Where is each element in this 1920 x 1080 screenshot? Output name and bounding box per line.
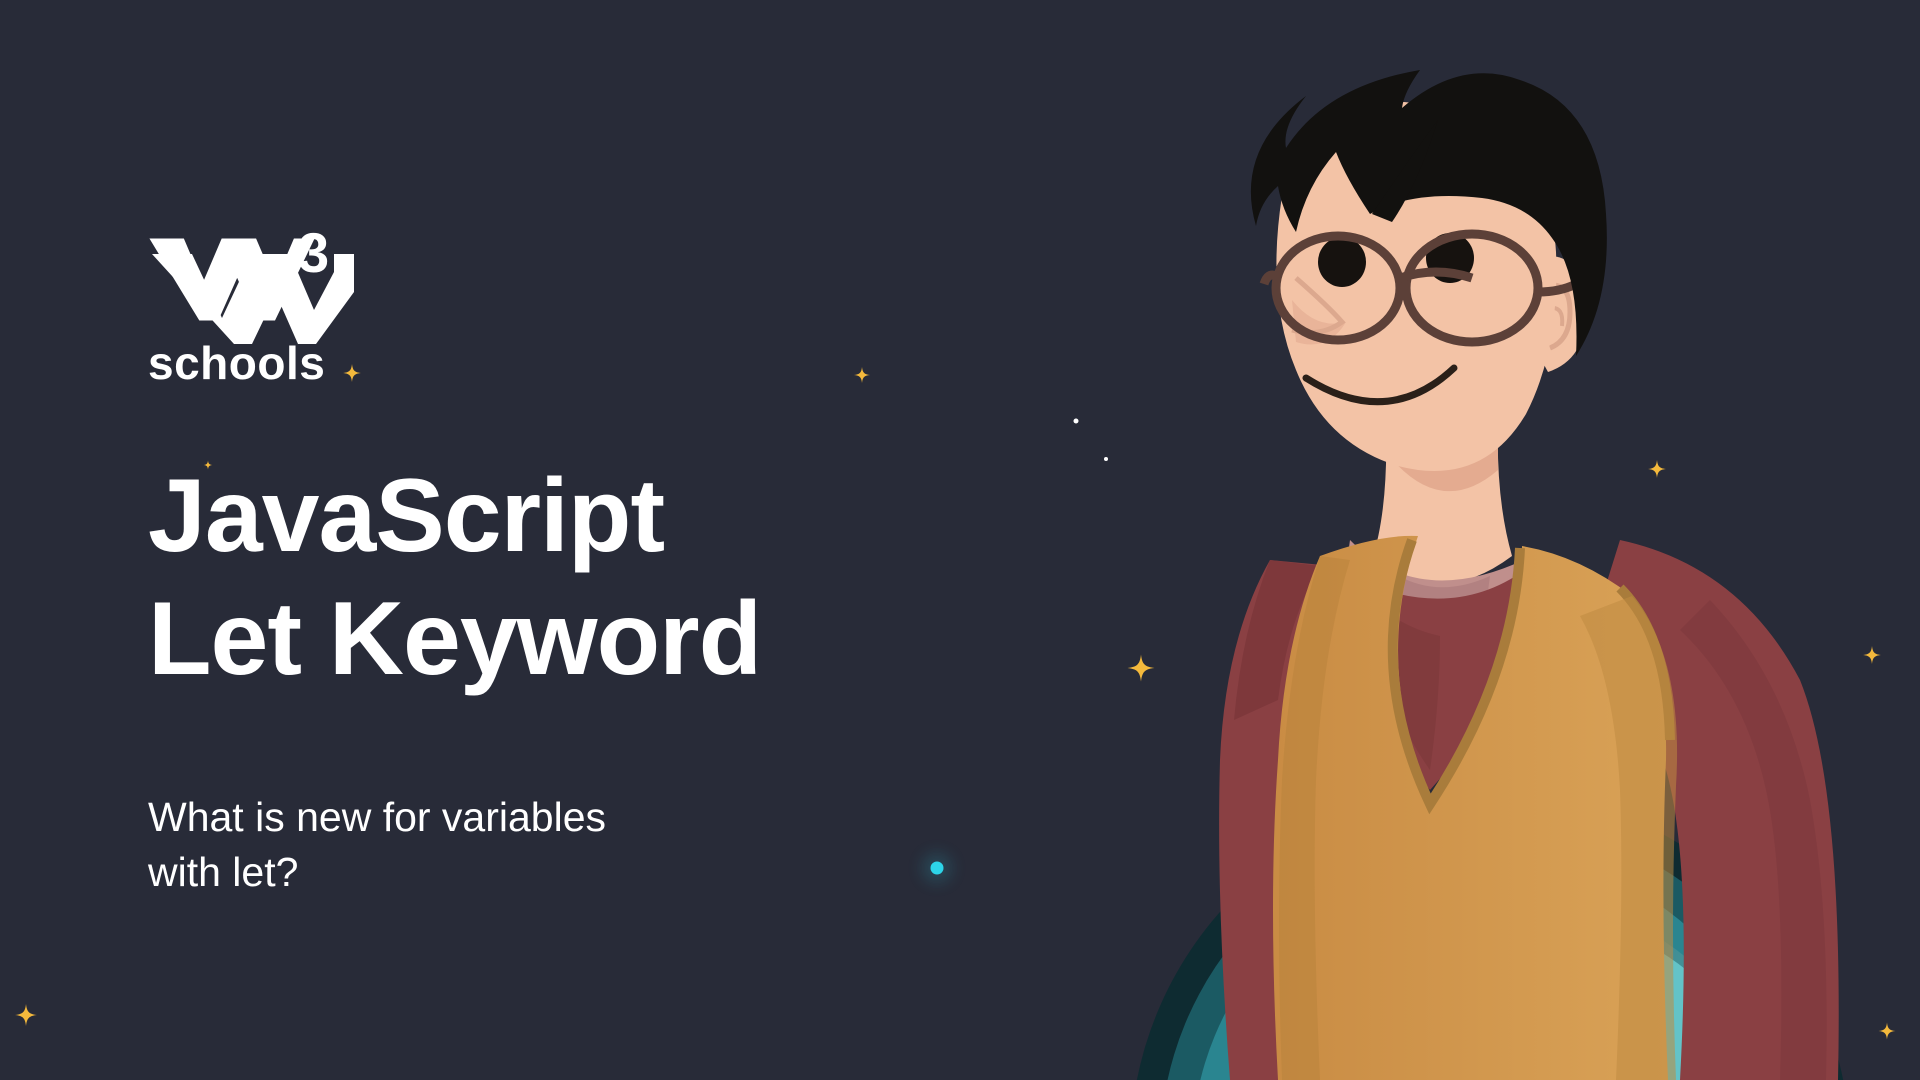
w3schools-logo[interactable]: 3 schools <box>148 232 348 392</box>
sparkle-icon <box>15 1004 37 1026</box>
hero-illustration <box>1020 0 1920 1080</box>
w3-logo-w-glyph: 3 <box>148 232 358 344</box>
page-title: JavaScript Let Keyword <box>148 455 761 700</box>
page-subtitle: What is new for variables with let? <box>148 790 606 901</box>
head <box>1251 70 1607 471</box>
cartoon-developer-in-space-illustration <box>1020 0 1920 1080</box>
hero-text-column: 3 schools JavaScript Let Keyword What is… <box>148 0 968 1080</box>
w3schools-wordmark: schools <box>148 340 325 386</box>
left-eye <box>1318 237 1366 287</box>
w3-logo-superscript: 3 <box>298 232 329 284</box>
slide-canvas: 3 schools JavaScript Let Keyword What is… <box>0 0 1920 1080</box>
